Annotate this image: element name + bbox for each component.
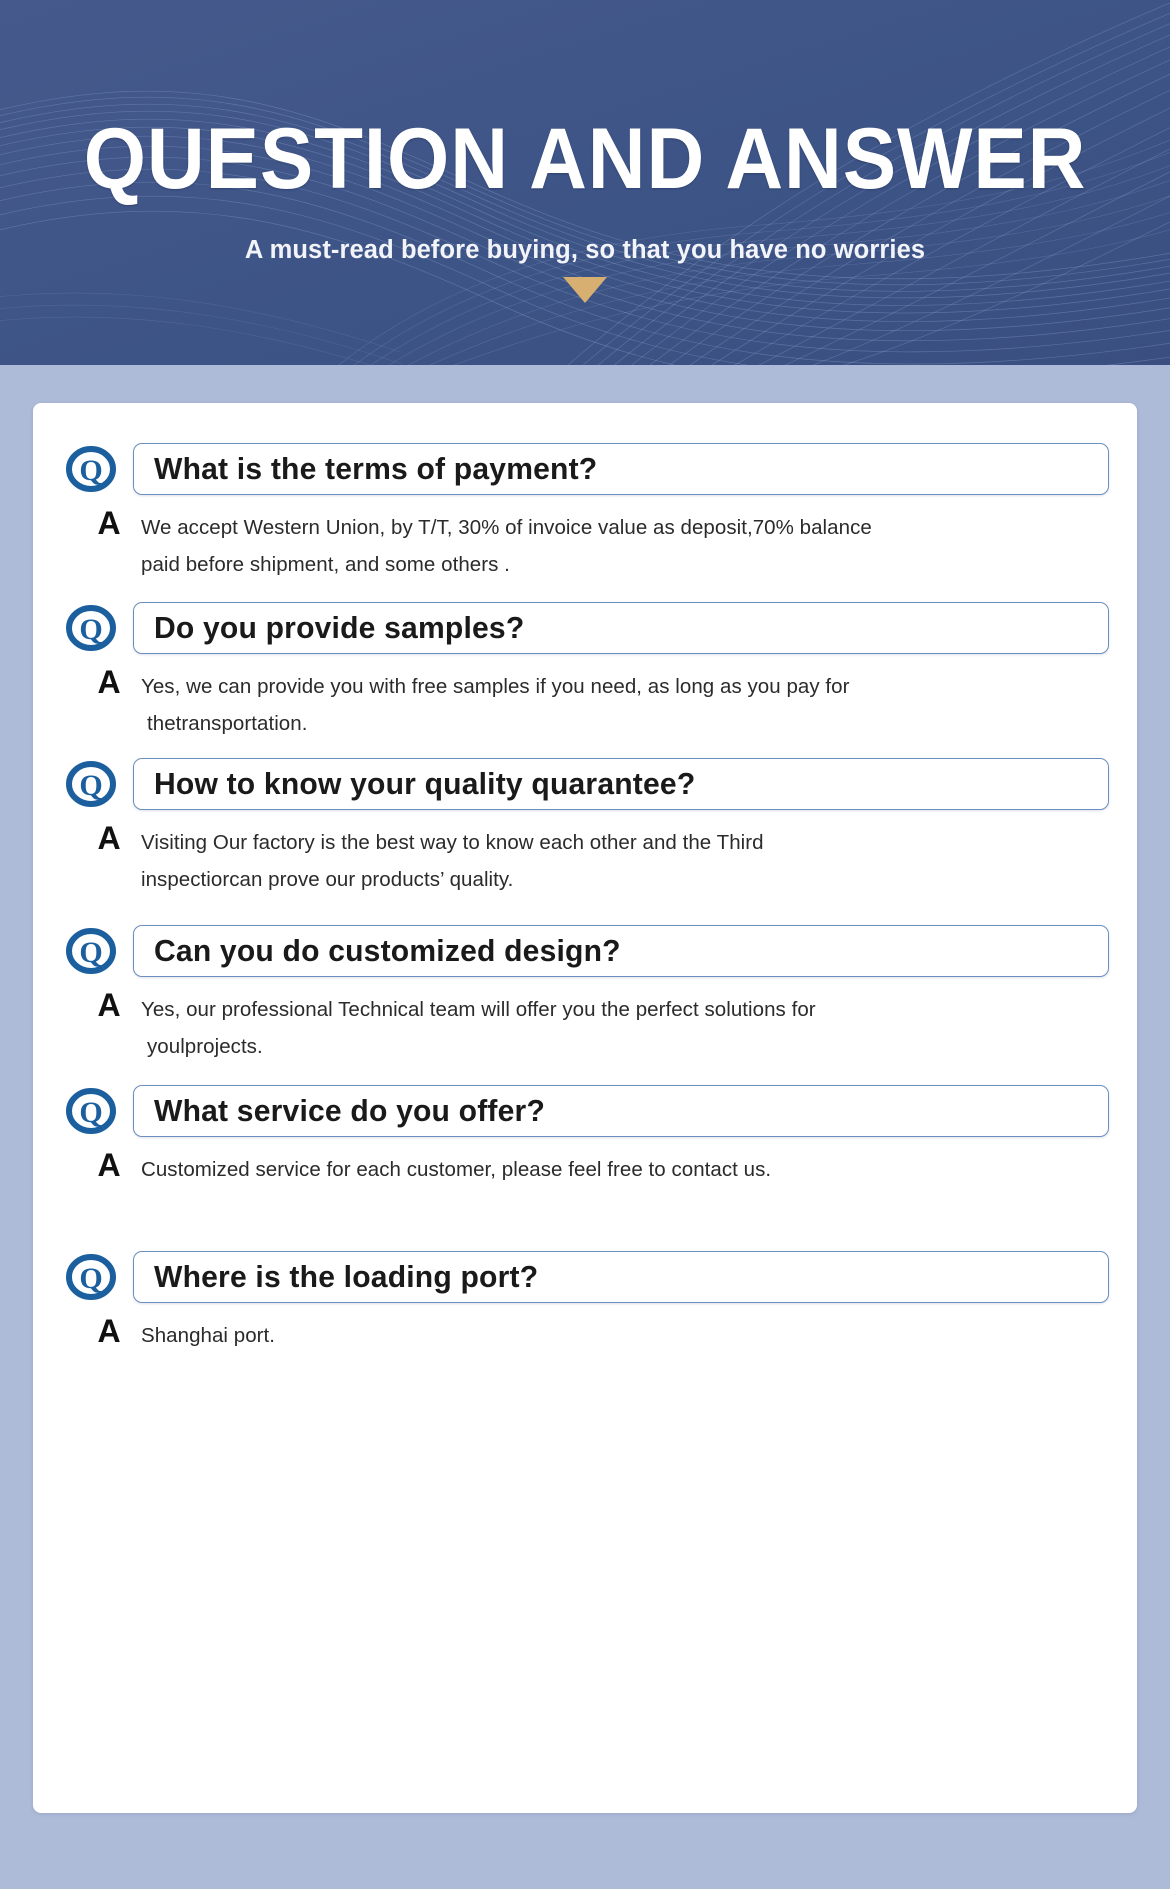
answer-line: Customized service for each customer, pl… (141, 1151, 1109, 1188)
answer-body: Customized service for each customer, pl… (133, 1147, 1109, 1188)
page-header: QUESTION AND ANSWER A must-read before b… (0, 0, 1170, 365)
answer-line: Yes, our professional Technical team wil… (141, 991, 1109, 1028)
answer-body: We accept Western Union, by T/T, 30% of … (133, 505, 1109, 584)
question-text: Where is the loading port? (154, 1259, 538, 1295)
question-box[interactable]: What is the terms of payment? (133, 443, 1109, 495)
question-q-icon: Q (63, 604, 119, 652)
question-box[interactable]: Can you do customized design? (133, 925, 1109, 977)
answer-row: A Yes, we can provide you with free samp… (63, 664, 1109, 743)
answer-a-label: A (85, 505, 133, 542)
triangle-down-icon (563, 277, 607, 303)
question-text: What service do you offer? (154, 1093, 545, 1129)
question-box[interactable]: Where is the loading port? (133, 1251, 1109, 1303)
question-q-icon: Q (63, 445, 119, 493)
question-q-icon: Q (63, 927, 119, 975)
page-title: QUESTION AND ANSWER (84, 116, 1087, 202)
spacer (33, 742, 1137, 758)
question-row[interactable]: Q How to know your quality quarantee? (63, 758, 1109, 810)
answer-row: A Visiting Our factory is the best way t… (63, 820, 1109, 899)
faq-item: Q Can you do customized design? A Yes, o… (33, 925, 1137, 1066)
svg-text:Q: Q (79, 613, 102, 646)
spacer (33, 584, 1137, 602)
answer-row: A Shanghai port. (63, 1313, 1109, 1354)
question-row[interactable]: Q What service do you offer? (63, 1085, 1109, 1137)
faq-list: Q What is the terms of payment? A We acc… (33, 403, 1137, 1354)
faq-item: Q What is the terms of payment? A We acc… (33, 443, 1137, 584)
svg-text:Q: Q (79, 1262, 102, 1295)
answer-row: A Customized service for each customer, … (63, 1147, 1109, 1188)
answer-line: inspectiorcan prove our products’ qualit… (141, 861, 1109, 898)
question-text: Do you provide samples? (154, 610, 524, 646)
spacer (33, 1189, 1137, 1251)
faq-item: Q Where is the loading port? A Shanghai … (33, 1251, 1137, 1354)
question-q-icon: Q (63, 760, 119, 808)
question-q-icon: Q (63, 1087, 119, 1135)
answer-a-label: A (85, 820, 133, 857)
question-box[interactable]: What service do you offer? (133, 1085, 1109, 1137)
answer-body: Yes, our professional Technical team wil… (133, 987, 1109, 1066)
answer-row: A Yes, our professional Technical team w… (63, 987, 1109, 1066)
faq-item: Q How to know your quality quarantee? A … (33, 758, 1137, 899)
question-row[interactable]: Q What is the terms of payment? (63, 443, 1109, 495)
answer-line: youlprojects. (141, 1028, 1109, 1065)
answer-line: Visiting Our factory is the best way to … (141, 824, 1109, 861)
question-row[interactable]: Q Where is the loading port? (63, 1251, 1109, 1303)
answer-line: thetransportation. (141, 705, 1109, 742)
svg-text:Q: Q (79, 454, 102, 487)
answer-line: Yes, we can provide you with free sample… (141, 668, 1109, 705)
answer-row: A We accept Western Union, by T/T, 30% o… (63, 505, 1109, 584)
answer-body: Yes, we can provide you with free sample… (133, 664, 1109, 743)
question-text: Can you do customized design? (154, 933, 621, 969)
page-body: Q What is the terms of payment? A We acc… (0, 365, 1170, 1889)
answer-line: Shanghai port. (141, 1317, 1109, 1354)
question-q-icon: Q (63, 1253, 119, 1301)
answer-a-label: A (85, 1313, 133, 1350)
spacer (33, 899, 1137, 925)
question-box[interactable]: How to know your quality quarantee? (133, 758, 1109, 810)
question-row[interactable]: Q Can you do customized design? (63, 925, 1109, 977)
faq-item: Q What service do you offer? A Customize… (33, 1085, 1137, 1188)
question-box[interactable]: Do you provide samples? (133, 602, 1109, 654)
answer-a-label: A (85, 664, 133, 701)
svg-text:Q: Q (79, 769, 102, 802)
page-subtitle: A must-read before buying, so that you h… (245, 236, 925, 265)
question-text: What is the terms of payment? (154, 451, 597, 487)
svg-text:Q: Q (79, 1096, 102, 1129)
answer-body: Visiting Our factory is the best way to … (133, 820, 1109, 899)
answer-a-label: A (85, 987, 133, 1024)
answer-body: Shanghai port. (133, 1313, 1109, 1354)
answer-line: paid before shipment, and some others . (141, 546, 1109, 583)
faq-card: Q What is the terms of payment? A We acc… (33, 403, 1137, 1813)
answer-line: We accept Western Union, by T/T, 30% of … (141, 509, 1109, 546)
svg-text:Q: Q (79, 936, 102, 969)
question-text: How to know your quality quarantee? (154, 766, 695, 802)
faq-item: Q Do you provide samples? A Yes, we can … (33, 602, 1137, 743)
spacer (33, 1065, 1137, 1085)
answer-a-label: A (85, 1147, 133, 1184)
question-row[interactable]: Q Do you provide samples? (63, 602, 1109, 654)
